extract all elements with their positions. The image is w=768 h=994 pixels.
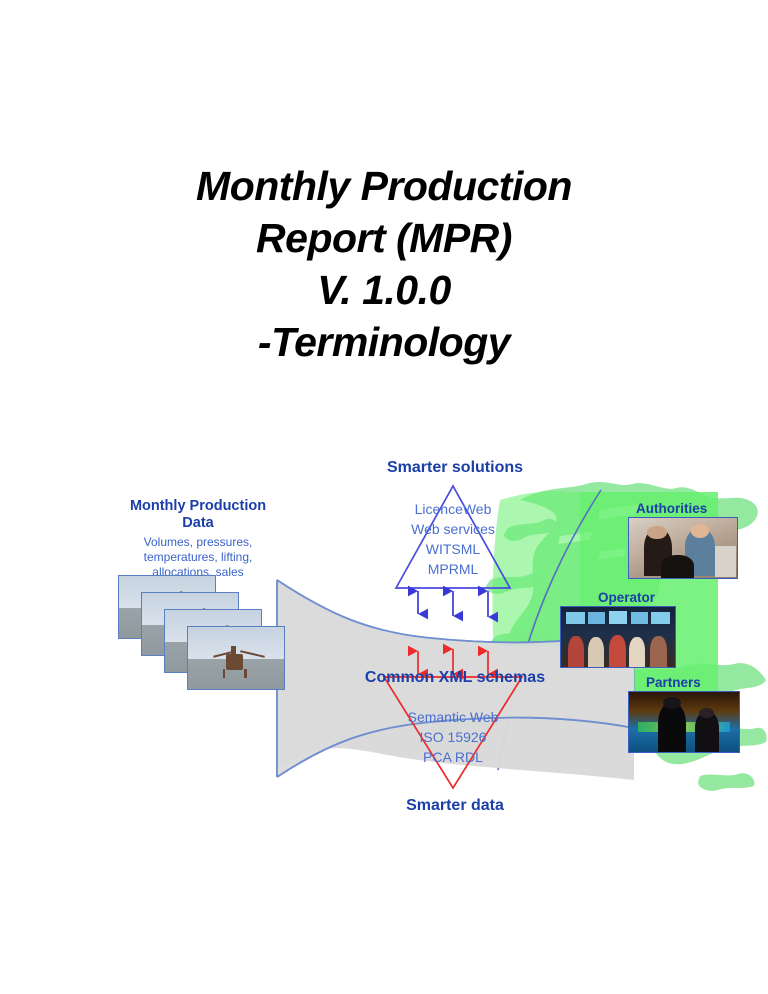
source-heading-line2: Data — [103, 515, 293, 532]
page-title: Monthly Production Report (MPR) V. 1.0.0… — [0, 160, 768, 368]
source-body-line1: Volumes, pressures, — [103, 535, 293, 550]
smarter-data-banner: Smarter data — [340, 797, 570, 815]
production-data-photo-stack — [118, 575, 288, 695]
top-triangle-line-1: LicenceWeb — [378, 500, 528, 520]
bottom-triangle-line-3: PCA RDL — [378, 748, 528, 768]
blue-arrow-group — [418, 591, 488, 617]
bottom-triangle-line-2: ISO 15926 — [378, 728, 528, 748]
consumer-label-partners: Partners — [646, 675, 701, 690]
photo-authorities — [628, 517, 738, 579]
title-line-2: Report (MPR) — [0, 212, 768, 264]
top-triangle-line-4: MPRML — [378, 560, 528, 580]
photo-partners — [628, 691, 740, 753]
rig-photo-4 — [187, 626, 285, 690]
title-line-4: -Terminology — [0, 316, 768, 368]
source-body-line2: temperatures, lifting, — [103, 550, 293, 565]
photo-operator — [560, 606, 676, 668]
top-triangle-line-2: Web services — [378, 520, 528, 540]
mpr-architecture-diagram: Smarter solutions Smarter data Monthly P… — [0, 440, 768, 840]
source-heading-line1: Monthly Production — [103, 498, 293, 515]
title-line-3: V. 1.0.0 — [0, 264, 768, 316]
top-triangle-line-3: WITSML — [378, 540, 528, 560]
consumer-label-authorities: Authorities — [636, 501, 707, 516]
smarter-solutions-banner: Smarter solutions — [340, 459, 570, 477]
bottom-triangle-line-1: Semantic Web — [378, 708, 528, 728]
funnel-label: Common XML schemas — [330, 669, 580, 687]
title-line-1: Monthly Production — [0, 160, 768, 212]
consumer-label-operator: Operator — [598, 590, 655, 605]
